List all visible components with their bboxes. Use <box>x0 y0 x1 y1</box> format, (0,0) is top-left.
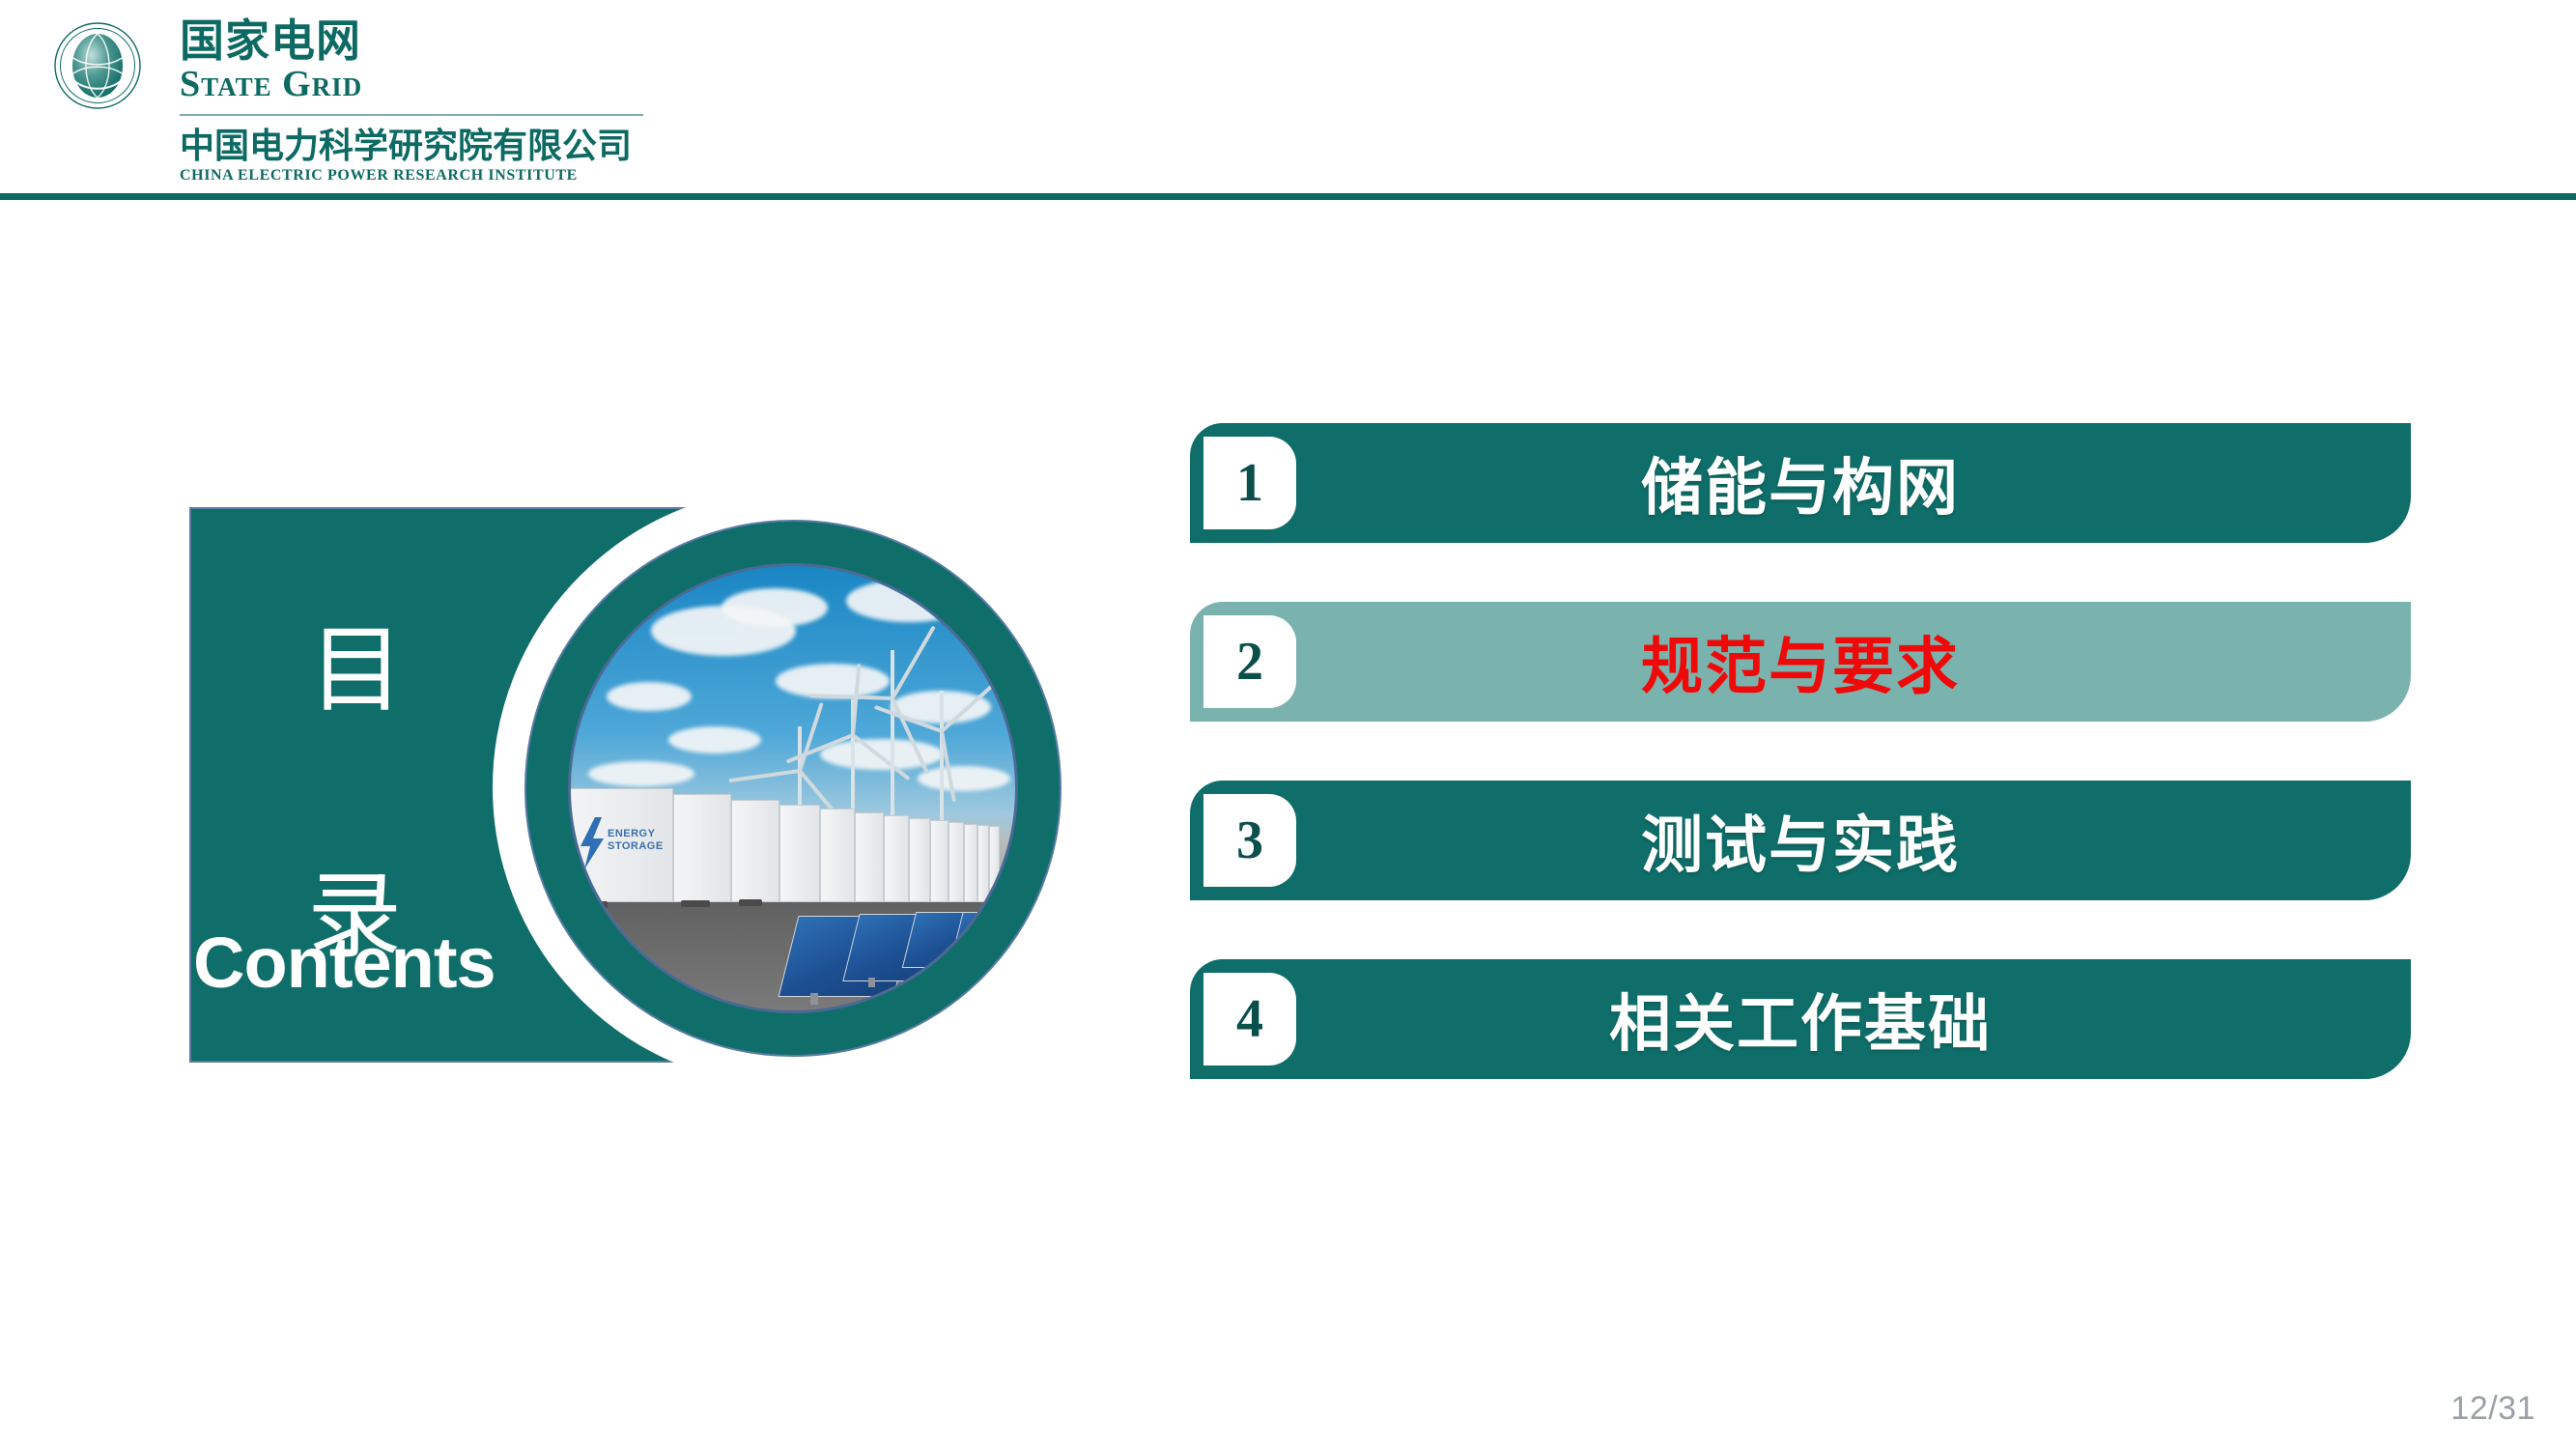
agenda-label-4: 相关工作基础 <box>1190 959 2411 1079</box>
lightning-bolt-icon <box>579 817 606 869</box>
contents-title-char-mu: 目 <box>309 623 404 718</box>
brand-text-block: 国家电网 State Grid 中国电力科学研究院有限公司 CHINA ELEC… <box>180 17 682 184</box>
institute-name-en: CHINA ELECTRIC POWER RESEARCH INSTITUTE <box>180 167 682 185</box>
agenda-list: 1 储能与构网 2 规范与要求 3 测试与实践 4 相关工作基础 <box>1190 423 2411 1138</box>
container-label-line2: STORAGE <box>608 840 664 852</box>
header-divider-line <box>0 193 2576 200</box>
container-energy-storage-label: ENERGY STORAGE <box>608 828 664 855</box>
brand-divider <box>180 114 643 116</box>
slide-header: 国家电网 State Grid 中国电力科学研究院有限公司 CHINA ELEC… <box>0 0 2576 199</box>
agenda-label-2: 规范与要求 <box>1190 602 2411 722</box>
brand-name-cn: 国家电网 <box>180 17 682 64</box>
agenda-item-1[interactable]: 1 储能与构网 <box>1190 423 2411 543</box>
contents-title-en: Contents <box>193 927 495 999</box>
agenda-label-1: 储能与构网 <box>1190 423 2411 543</box>
agenda-label-3: 测试与实践 <box>1190 781 2411 900</box>
energy-storage-container-row: ENERGY STORAGE <box>568 786 1018 902</box>
agenda-item-3[interactable]: 3 测试与实践 <box>1190 781 2411 900</box>
contents-photo-circle: ENERGY STORAGE <box>568 563 1018 1013</box>
brand-name-en: State Grid <box>180 66 682 104</box>
state-grid-globe-emblem-icon <box>53 21 142 110</box>
institute-name-cn: 中国电力科学研究院有限公司 <box>180 128 682 166</box>
container-label-line1: ENERGY <box>608 828 655 839</box>
agenda-item-2[interactable]: 2 规范与要求 <box>1190 602 2411 722</box>
page-number: 12/31 <box>2450 1390 2535 1428</box>
agenda-item-4[interactable]: 4 相关工作基础 <box>1190 959 2411 1079</box>
